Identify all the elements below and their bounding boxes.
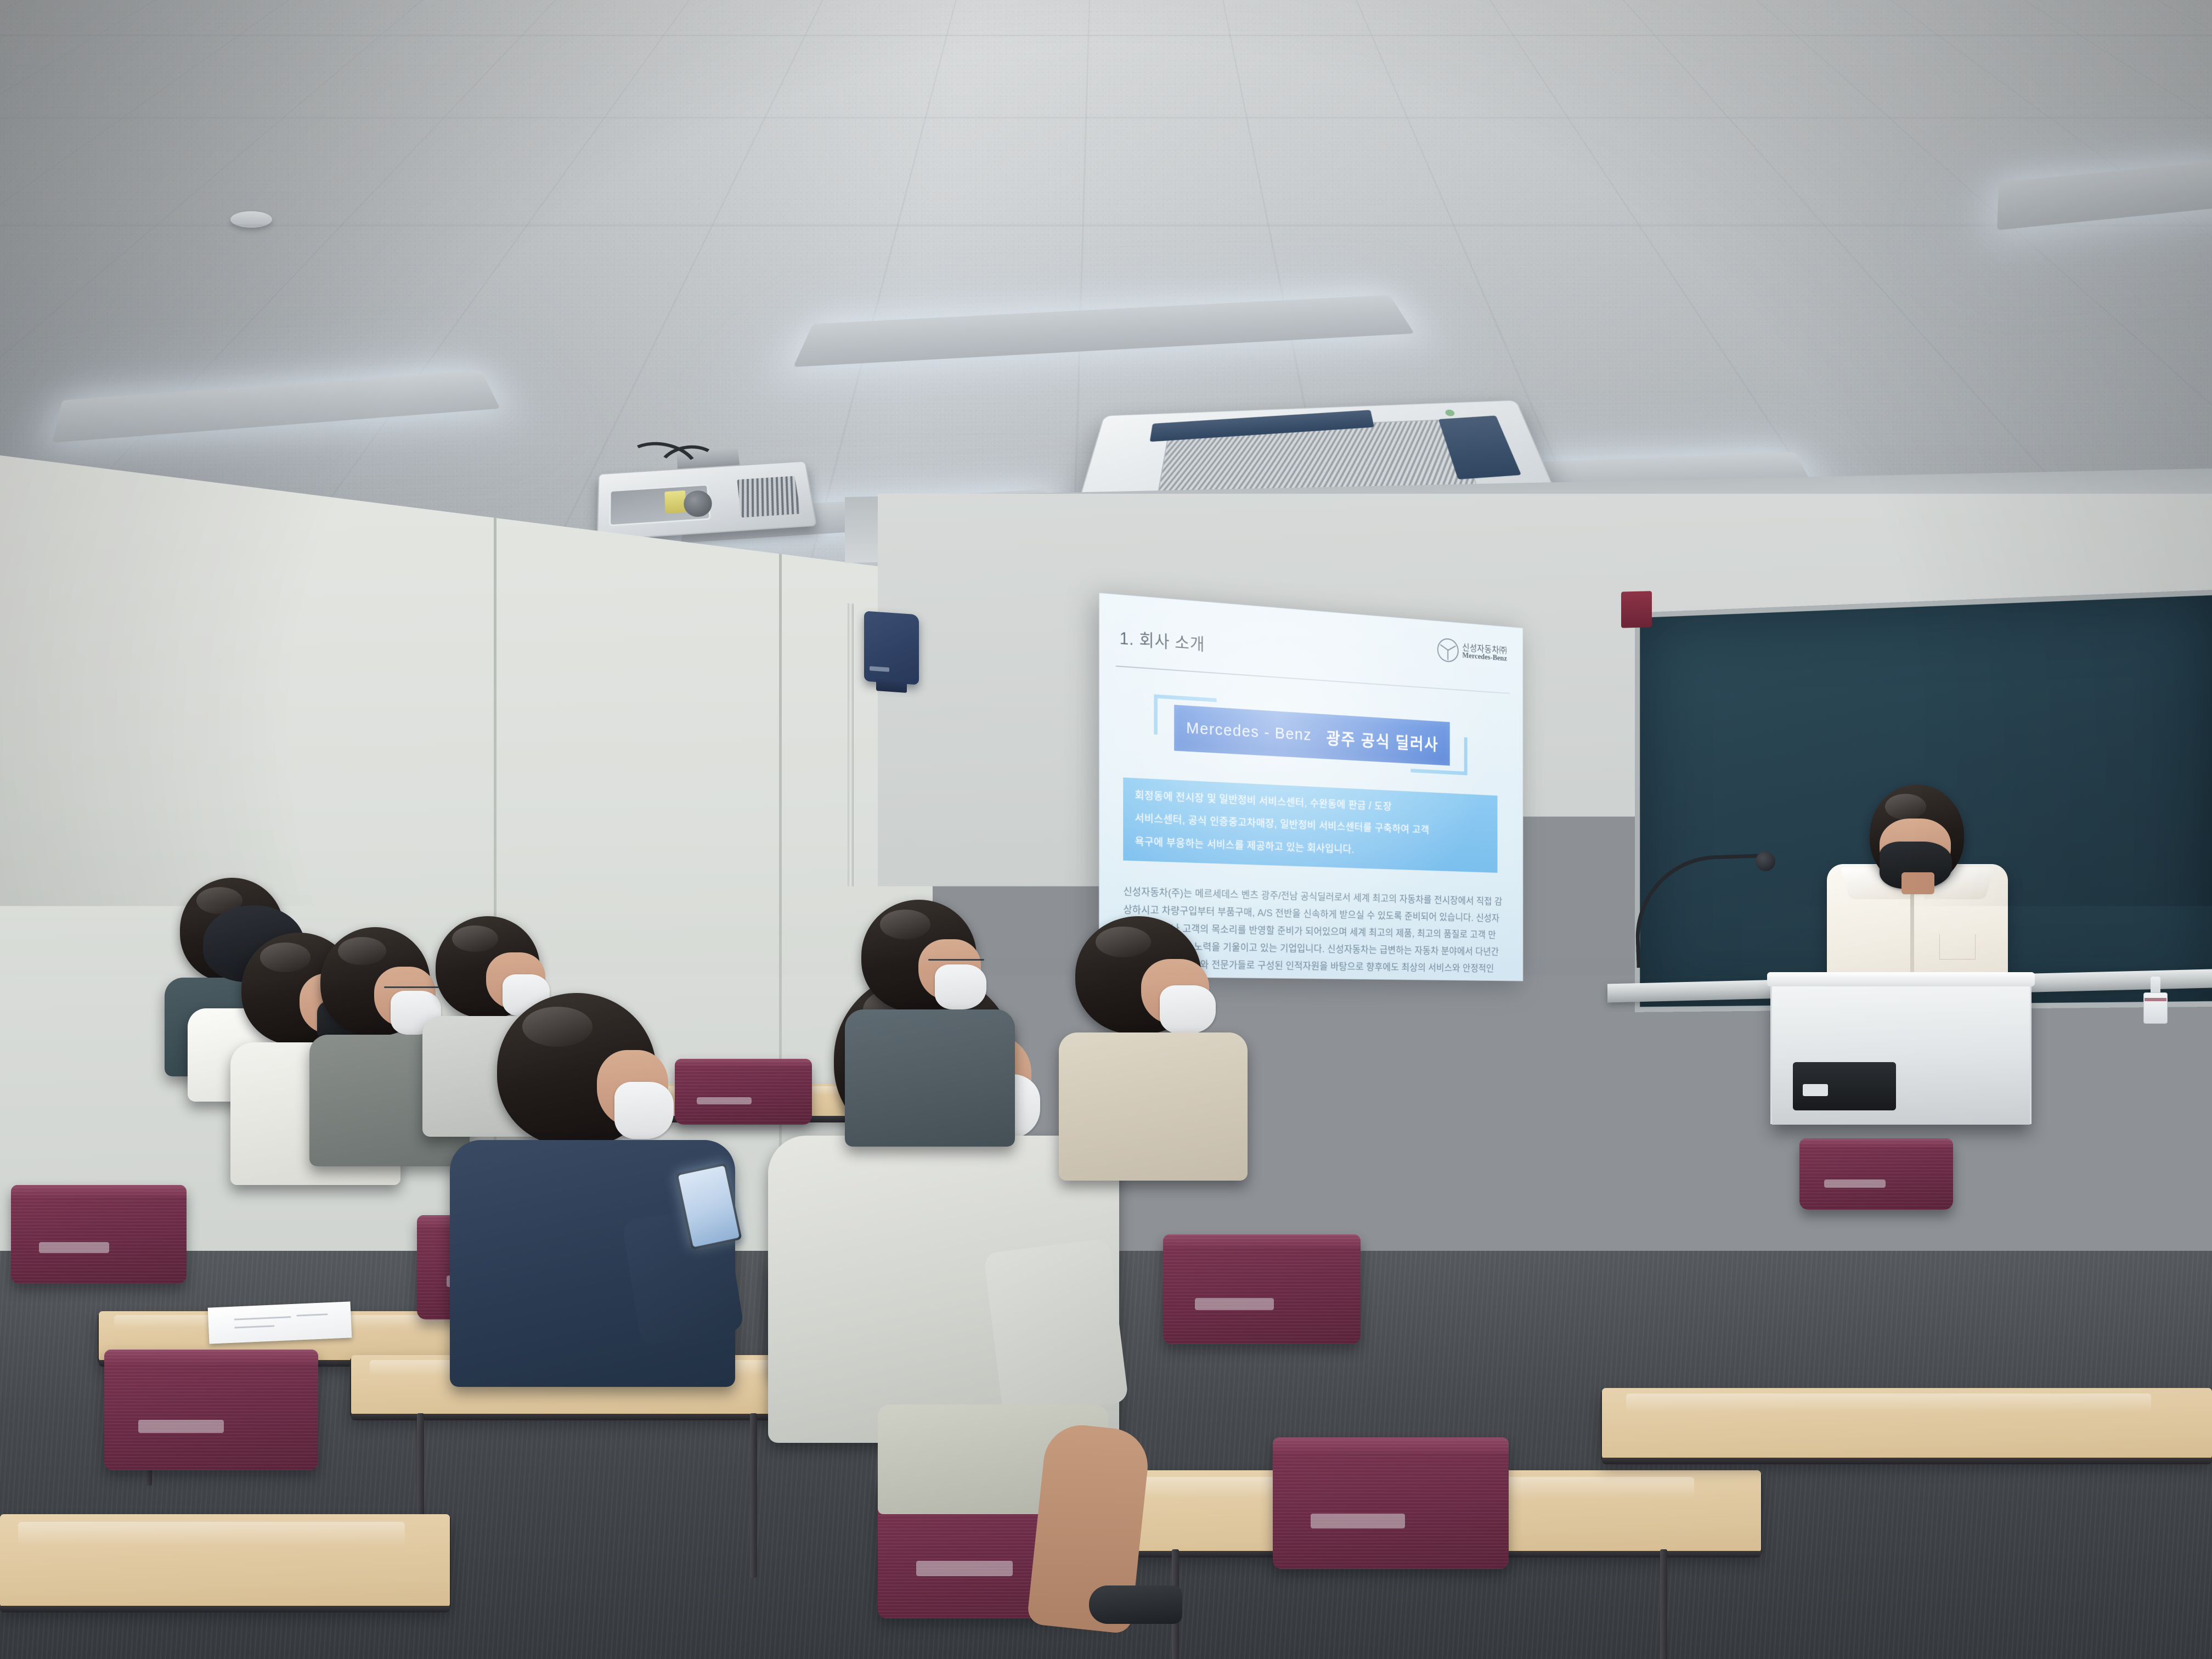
smoke-detector-icon [230, 211, 272, 228]
banner-brand: Mercedes - Benz [1186, 719, 1312, 744]
desk [0, 1514, 450, 1607]
microphone-capsule[interactable] [1756, 851, 1775, 871]
classroom-scene: 1. 회사 소개 신성자동차㈜ Mercedes-Benz [0, 0, 2212, 1659]
handout-papers[interactable] [208, 1301, 352, 1344]
student [1059, 916, 1240, 1152]
chair[interactable] [104, 1350, 318, 1470]
company-logo: 신성자동차㈜ Mercedes-Benz [1437, 638, 1507, 667]
student [1772, 933, 1937, 1141]
slide-banner: Mercedes - Benz 광주 공식 딜러사 [1154, 694, 1468, 775]
flip-flop-sandal [1089, 1585, 1182, 1624]
chalkboard-corner-trim [1621, 591, 1652, 628]
wall-speaker [864, 611, 919, 685]
chair[interactable] [1163, 1234, 1361, 1344]
chair[interactable] [11, 1185, 187, 1284]
student [2024, 971, 2212, 1256]
chair[interactable] [1273, 1437, 1509, 1569]
presenter-neck [1901, 872, 1934, 894]
student [845, 900, 1009, 1119]
slide-title: 1. 회사 소개 [1120, 624, 1205, 655]
slide-callout-box: 회정동에 전시장 및 일반정비 서비스센터, 수완동에 판금 / 도장 서비스센… [1123, 777, 1498, 873]
mercedes-star-icon [1437, 638, 1459, 663]
banner-korean: 광주 공식 딜러사 [1327, 725, 1439, 755]
